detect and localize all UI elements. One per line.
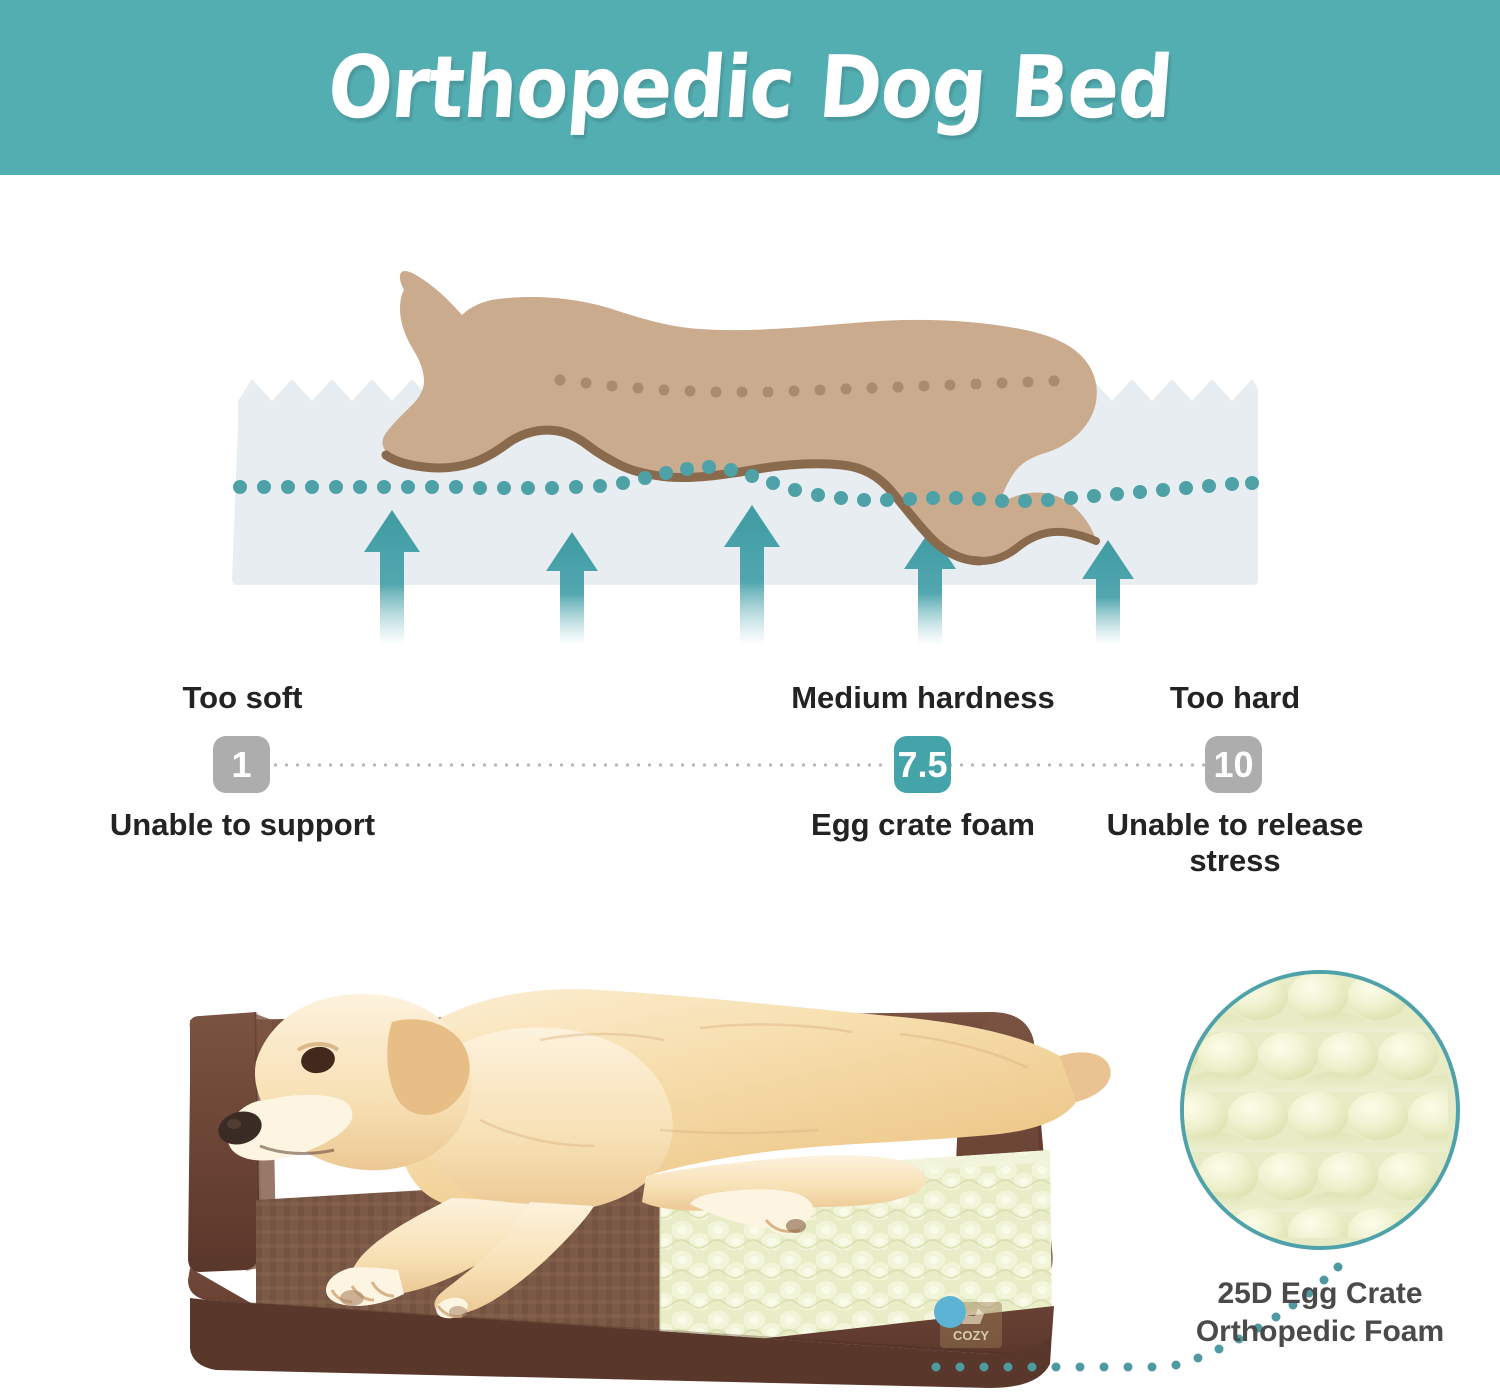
scale-bottom-label-too-hard-line2: stress <box>1189 843 1280 878</box>
scale-bottom-label-medium-hardness: Egg crate foam <box>780 807 1066 843</box>
scale-top-label-too-soft: Too soft <box>100 680 385 716</box>
scale-badge-too-hard[interactable]: 10 <box>1205 736 1262 793</box>
scale-top-label-too-hard: Too hard <box>1110 680 1360 716</box>
scale-badge-too-soft[interactable]: 1 <box>213 736 270 793</box>
page-header-banner: Orthopedic Dog Bed <box>0 0 1500 175</box>
egg-crate-foam-closeup <box>1180 970 1460 1250</box>
scale-bottom-label-too-hard: Unable to release stress <box>1105 807 1365 878</box>
scale-dotted-line-right <box>945 763 1205 767</box>
scale-top-label-medium-hardness: Medium hardness <box>780 680 1066 716</box>
product-photo-section: COZY <box>0 930 1500 1392</box>
scale-bottom-label-too-hard-line1: Unable to release <box>1107 807 1364 842</box>
hardness-scale: Too soft 1 Unable to support Medium hard… <box>0 660 1500 890</box>
support-diagram <box>0 175 1500 645</box>
callout-label: 25D Egg Crate Orthopedic Foam <box>1165 1275 1475 1350</box>
page-title: Orthopedic Dog Bed <box>325 45 1175 131</box>
scale-badge-medium-hardness[interactable]: 7.5 <box>894 736 951 793</box>
callout-label-line2: Orthopedic Foam <box>1196 1315 1444 1348</box>
scale-dotted-line-left <box>270 763 885 767</box>
scale-bottom-label-too-soft: Unable to support <box>100 807 385 843</box>
foam-callout: 25D Egg Crate Orthopedic Foam <box>1165 970 1475 1370</box>
callout-label-line1: 25D Egg Crate <box>1217 1277 1422 1310</box>
